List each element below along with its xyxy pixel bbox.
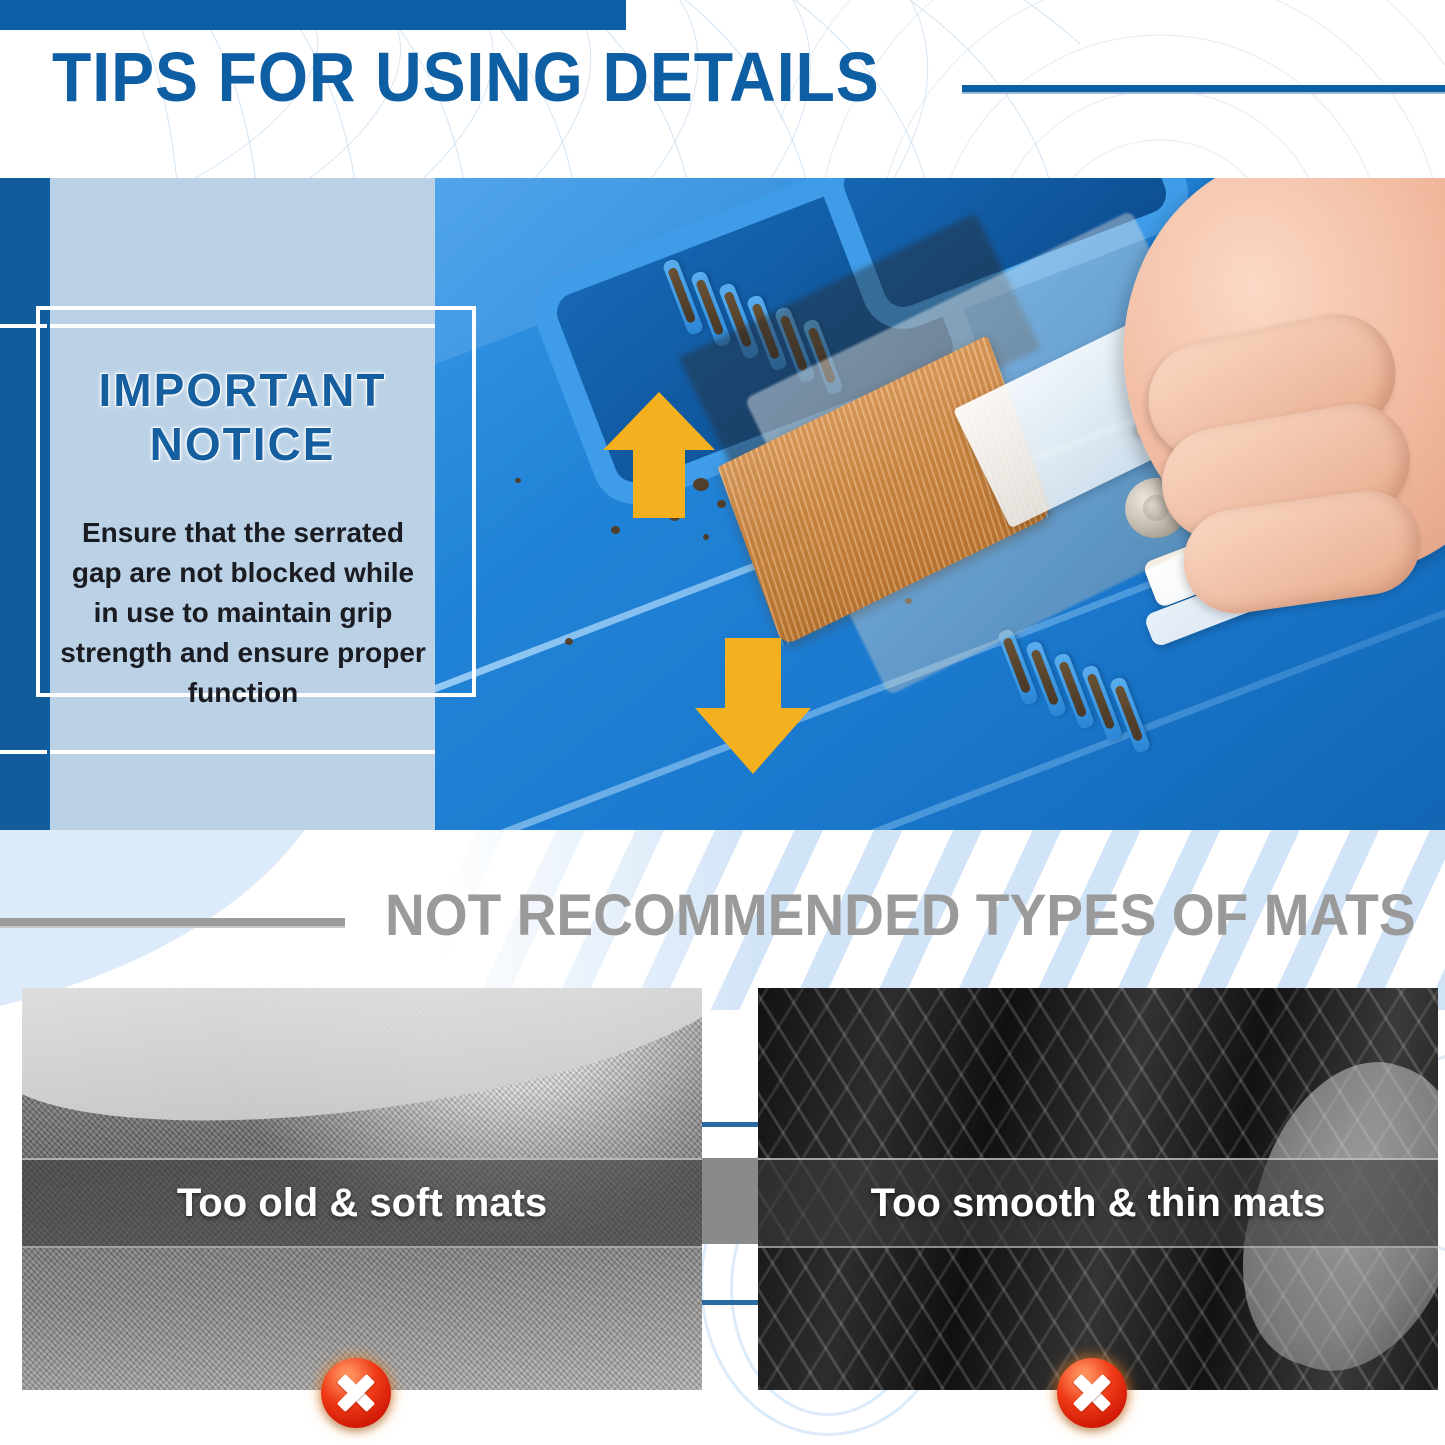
notice-and-photo-section: IMPORTANT NOTICE Ensure that the serrate… bbox=[0, 178, 1445, 830]
header-rule-shadow bbox=[962, 92, 1445, 94]
caption-band-bridge bbox=[702, 1158, 758, 1244]
mat-card-smooth-thin: Too smooth & thin mats bbox=[758, 988, 1438, 1390]
notice-body-text: Ensure that the serrated gap are not blo… bbox=[58, 513, 428, 713]
infographic-page: TIPS FOR USING DETAILS bbox=[0, 0, 1445, 1445]
page-title: TIPS FOR USING DETAILS bbox=[52, 42, 880, 112]
tool-cleaning-photo bbox=[435, 178, 1445, 830]
card-connector-line-top bbox=[702, 1122, 758, 1127]
section-rule bbox=[0, 918, 345, 926]
mat-caption-left: Too old & soft mats bbox=[22, 1160, 702, 1246]
header-section: TIPS FOR USING DETAILS bbox=[0, 0, 1445, 178]
left-accent-bar-gap-bottom bbox=[0, 750, 47, 754]
section-rule-shadow bbox=[0, 926, 345, 928]
not-recommended-section: NOT RECOMMENDED TYPES OF MATS Too old & … bbox=[0, 830, 1445, 1445]
header-top-accent-bar bbox=[0, 0, 626, 30]
brush-down-arrow-icon bbox=[665, 638, 865, 778]
header-rule bbox=[962, 85, 1445, 92]
card-connector-line-bottom bbox=[702, 1300, 758, 1305]
notice-title-line-2: NOTICE bbox=[150, 418, 336, 470]
mat-caption-right: Too smooth & thin mats bbox=[758, 1160, 1438, 1246]
mat-card-old-soft: Too old & soft mats bbox=[22, 988, 702, 1390]
section-title: NOT RECOMMENDED TYPES OF MATS bbox=[385, 885, 1416, 947]
x-badge-left bbox=[321, 1358, 391, 1428]
mat-caption-band-left: Too old & soft mats bbox=[22, 1158, 702, 1248]
brush-up-arrow-icon bbox=[555, 388, 755, 518]
x-badge-right bbox=[1057, 1358, 1127, 1428]
notice-panel-divider-bottom bbox=[50, 750, 435, 754]
mat-caption-band-right: Too smooth & thin mats bbox=[758, 1158, 1438, 1248]
notice-title-line-1: IMPORTANT bbox=[98, 364, 386, 416]
notice-title: IMPORTANT NOTICE bbox=[50, 363, 435, 471]
